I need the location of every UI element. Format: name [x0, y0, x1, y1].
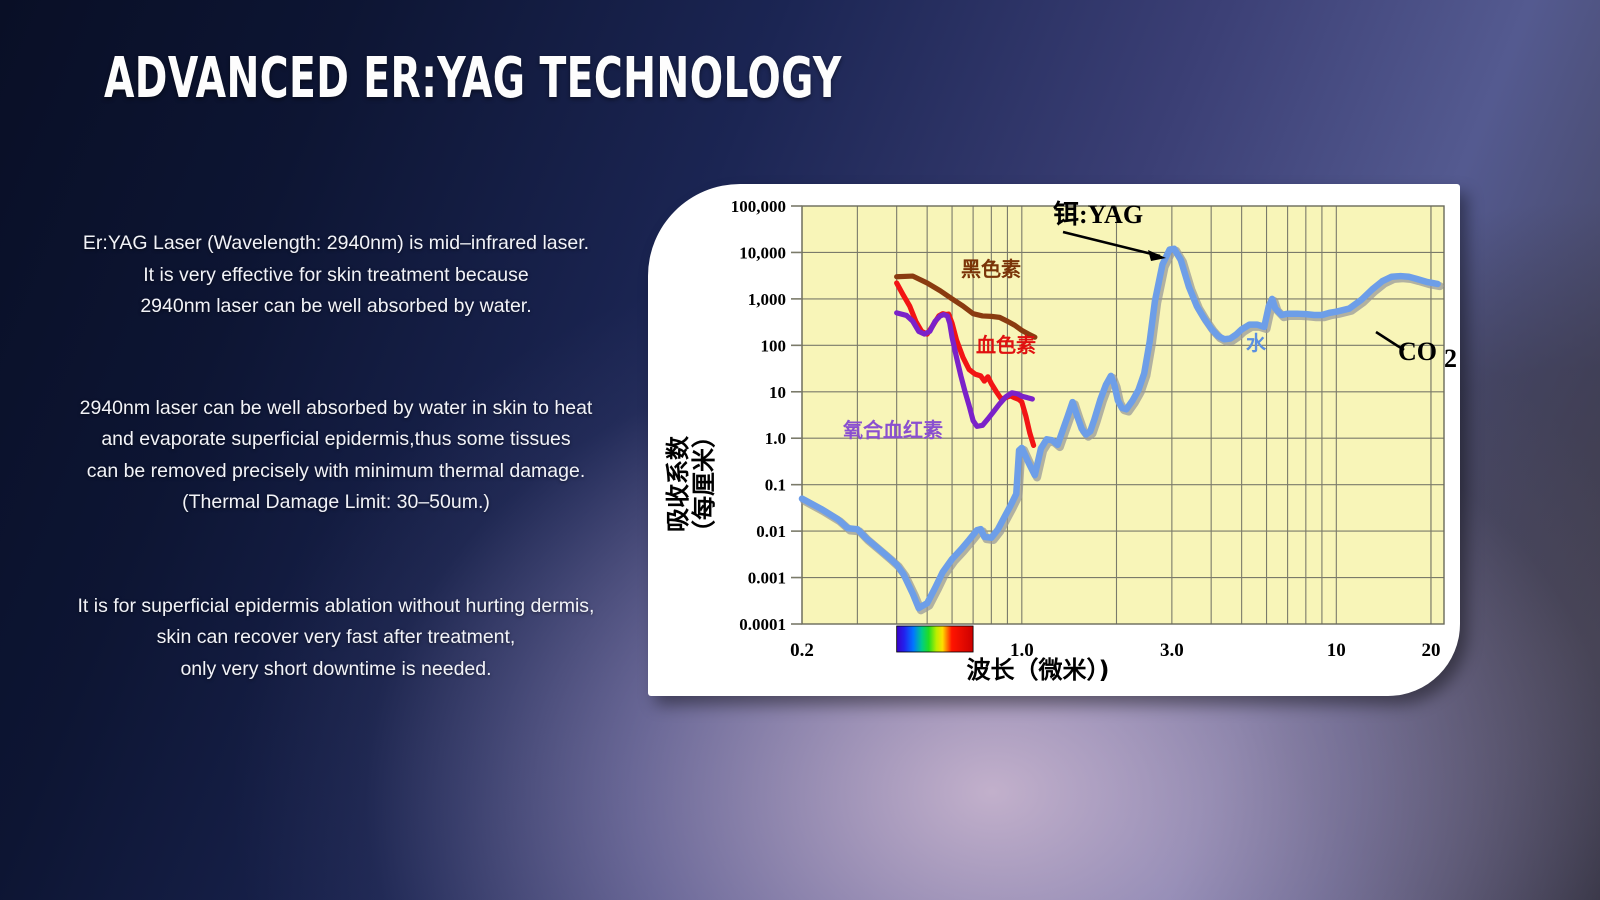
x-tick-label-0: 0.2	[790, 640, 814, 661]
paragraph-3: It is for superficial epidermis ablation…	[30, 591, 642, 686]
y-tick-label-6: 0.1	[765, 476, 786, 495]
visible-spectrum-bar	[897, 626, 973, 652]
y-tick-label-3: 100	[761, 336, 787, 355]
y-axis-title: 吸收系数 （每厘米）	[664, 424, 718, 544]
annotation-water-label: 水	[1246, 331, 1267, 355]
y-tick-label-2: 1,000	[748, 290, 786, 309]
annotation-co2-label: CO	[1398, 337, 1437, 366]
annotation-co2-subscript: 2	[1444, 344, 1457, 373]
y-axis-title-line-2: （每厘米）	[690, 424, 718, 544]
paragraph-1: Er:YAG Laser (Wavelength: 2940nm) is mid…	[30, 228, 642, 323]
x-tick-label-3: 10	[1327, 640, 1346, 661]
x-axis-title: 波长（微米）)	[967, 656, 1110, 684]
paragraph-2-line-2: and evaporate superficial epidermis,thus…	[30, 424, 642, 456]
x-tick-label-2: 3.0	[1160, 640, 1184, 661]
annotation-er-yag-label: 铒:YAG	[1053, 200, 1143, 229]
annotation-melanin-label: 黑色素	[961, 257, 1021, 281]
y-tick-label-5: 1.0	[765, 429, 786, 448]
paragraph-3-line-2: skin can recover very fast after treatme…	[30, 622, 642, 654]
x-axis-tick-labels: 0.21.03.01020	[790, 640, 1440, 661]
y-axis-title-line-1: 吸收系数	[664, 435, 692, 532]
y-tick-label-0: 100,000	[731, 197, 786, 216]
paragraph-1-line-2: It is very effective for skin treatment …	[30, 260, 642, 292]
paragraph-1-line-1: Er:YAG Laser (Wavelength: 2940nm) is mid…	[30, 228, 642, 260]
paragraph-2-line-3: can be removed precisely with minimum th…	[30, 456, 642, 488]
chart-card: 100,00010,0001,000100101.00.10.010.0010.…	[648, 184, 1460, 696]
y-axis-tick-labels: 100,00010,0001,000100101.00.10.010.0010.…	[731, 197, 802, 634]
y-tick-label-8: 0.001	[748, 569, 786, 588]
paragraph-1-line-3: 2940nm laser can be well absorbed by wat…	[30, 291, 642, 323]
paragraph-3-line-3: only very short downtime is needed.	[30, 654, 642, 686]
page-title: Advanced Er:YAG Technology	[104, 46, 842, 111]
description-text-block: Er:YAG Laser (Wavelength: 2940nm) is mid…	[30, 228, 642, 685]
x-tick-label-4: 20	[1421, 640, 1440, 661]
paragraph-3-line-1: It is for superficial epidermis ablation…	[30, 591, 642, 623]
paragraph-2-line-1: 2940nm laser can be well absorbed by wat…	[30, 393, 642, 425]
y-tick-label-1: 10,000	[739, 243, 786, 262]
annotation-hemoglobin-label: 血色素	[976, 333, 1036, 357]
paragraph-2-line-4: (Thermal Damage Limit: 30–50um.)	[30, 487, 642, 519]
y-tick-label-9: 0.0001	[739, 615, 786, 634]
absorption-spectrum-chart: 100,00010,0001,000100101.00.10.010.0010.…	[648, 184, 1460, 696]
paragraph-2: 2940nm laser can be well absorbed by wat…	[30, 393, 642, 519]
visible-spectrum-gradient	[897, 626, 973, 652]
y-tick-label-4: 10	[769, 383, 786, 402]
y-tick-label-7: 0.01	[756, 522, 786, 541]
annotation-oxyhemoglobin-label: 氧合血红素	[842, 418, 943, 442]
